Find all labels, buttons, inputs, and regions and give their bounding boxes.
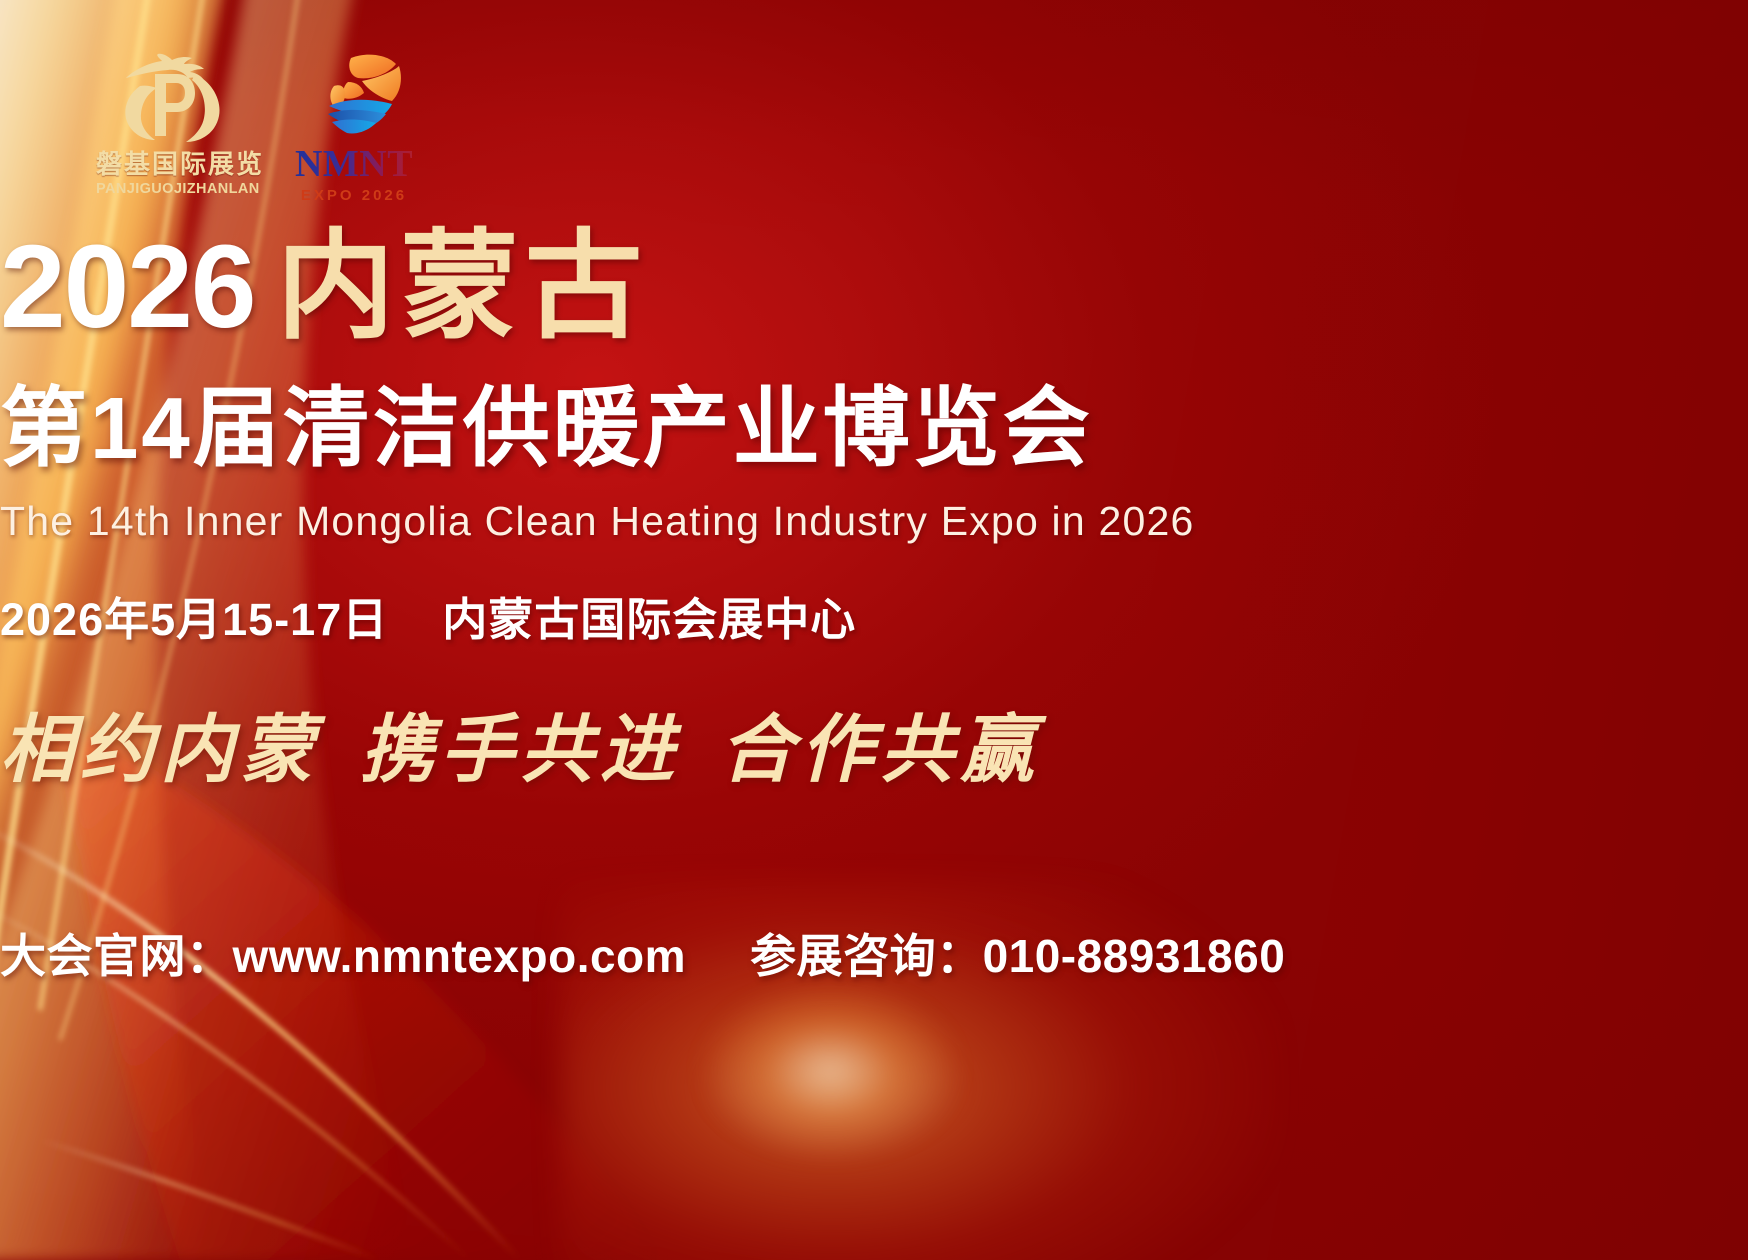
- edition-title: 第14届清洁供暖产业博览会: [0, 385, 1748, 472]
- slogan-part-3: 合作共赢: [720, 710, 1040, 792]
- sun-waves-emblem-icon: [304, 48, 404, 140]
- bottom-warm-glow-core: [700, 980, 960, 1160]
- english-title: The 14th Inner Mongolia Clean Heating In…: [0, 498, 1748, 545]
- logo-group: 磐基国际展览 PANJIGUOJIZHANLAN: [96, 48, 414, 204]
- nmnt-wordmark: NMNT: [294, 145, 414, 183]
- title-region: 内蒙古: [277, 221, 649, 353]
- title-year: 2026: [0, 221, 255, 353]
- nmnt-tagline: EXPO 2026: [294, 187, 414, 204]
- contact-line: 大会官网：www.nmntexpo.com参展咨询：010-88931860: [0, 920, 1748, 986]
- event-dates: 2026年5月15-17日: [0, 594, 388, 645]
- phone-label: 参展咨询：: [750, 930, 983, 982]
- slogan-line: 相约内蒙携手共进合作共赢: [0, 690, 1748, 797]
- website-value[interactable]: www.nmntexpo.com: [233, 930, 687, 982]
- panji-name-cn: 磐基国际展览: [96, 151, 254, 178]
- slogan-part-1: 相约内蒙: [0, 710, 320, 792]
- website-label: 大会官网：: [0, 930, 233, 982]
- dragon-p-monogram-icon: [100, 48, 250, 144]
- event-venue: 内蒙古国际会展中心: [442, 594, 856, 645]
- phone-value[interactable]: 010-88931860: [983, 930, 1286, 982]
- panji-logo[interactable]: 磐基国际展览 PANJIGUOJIZHANLAN: [96, 48, 254, 197]
- panji-name-en: PANJIGUOJIZHANLAN: [96, 181, 254, 197]
- expo-promo-poster: 磐基国际展览 PANJIGUOJIZHANLAN: [0, 0, 1748, 1260]
- page-title: 2026内蒙古: [0, 228, 1748, 346]
- event-info-line: 2026年5月15-17日内蒙古国际会展中心: [0, 583, 1748, 648]
- slogan-part-2: 携手共进: [360, 710, 680, 792]
- nmnt-logo[interactable]: NMNT EXPO 2026: [294, 48, 414, 204]
